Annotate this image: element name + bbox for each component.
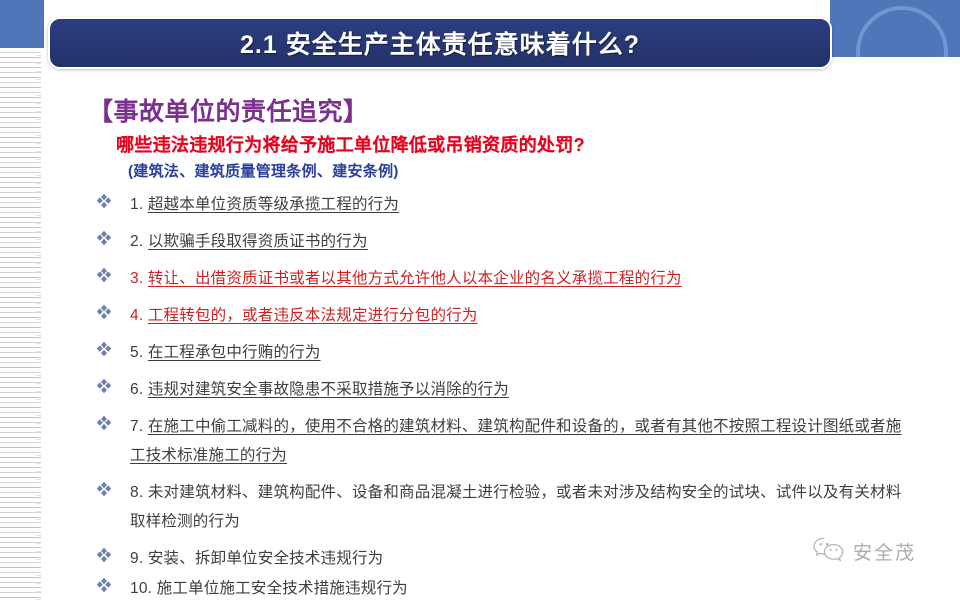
list-item: 6. 违规对建筑安全事故隐患不采取措施予以消除的行为 xyxy=(96,375,916,404)
list-item-body: 以欺骗手段取得资质证书的行为 xyxy=(148,233,368,250)
list-item-body: 违规对建筑安全事故隐患不采取措施予以消除的行为 xyxy=(148,381,509,398)
list-item-text: 10. 施工单位施工安全技术措施违规行为 xyxy=(130,574,916,601)
list-item: 7. 在施工中偷工减料的，使用不合格的建筑材料、建筑构配件和设备的，或者有其他不… xyxy=(96,412,916,470)
wechat-logo-icon xyxy=(812,536,846,567)
diamond-cluster-bullet-icon xyxy=(96,481,130,503)
list-item-text: 1. 超越本单位资质等级承揽工程的行为 xyxy=(130,190,916,219)
diamond-cluster-bullet-icon xyxy=(96,304,130,326)
list-item-body: 超越本单位资质等级承揽工程的行为 xyxy=(148,196,399,213)
section-source-blue: (建筑法、建筑质量管理条例、建安条例) xyxy=(128,160,399,181)
watermark: 安全茂 xyxy=(812,536,916,567)
list-item: 1. 超越本单位资质等级承揽工程的行为 xyxy=(96,190,916,219)
list-item-body: 在施工中偷工减料的，使用不合格的建筑材料、建筑构配件和设备的，或者有其他不按照工… xyxy=(130,418,901,464)
list-item-text: 2. 以欺骗手段取得资质证书的行为 xyxy=(130,227,916,256)
list-item-number: 7. xyxy=(130,418,143,435)
list-item-number: 4. xyxy=(130,307,143,324)
list-item-text: 9. 安装、拆卸单位安全技术违规行为 xyxy=(130,544,916,573)
list-item-number: 8. xyxy=(130,484,143,501)
diamond-cluster-bullet-icon xyxy=(96,547,130,569)
list-item: 9. 安装、拆卸单位安全技术违规行为 xyxy=(96,544,916,573)
list-item: 2. 以欺骗手段取得资质证书的行为 xyxy=(96,227,916,256)
watermark-text: 安全茂 xyxy=(853,538,916,565)
violation-list: 1. 超越本单位资质等级承揽工程的行为 2. 以欺骗手段取得资质证书的行为 3.… xyxy=(96,190,916,601)
list-item-text: 4. 工程转包的，或者违反本法规定进行分包的行为 xyxy=(130,301,916,330)
list-item: 5. 在工程承包中行贿的行为 xyxy=(96,338,916,367)
list-item-text: 3. 转让、出借资质证书或者以其他方式允许他人以本企业的名义承揽工程的行为 xyxy=(130,264,916,293)
diamond-cluster-bullet-icon xyxy=(96,577,130,599)
slide-content: 【事故单位的责任追究】 哪些违法违规行为将给予施工单位降低或吊销资质的处罚? (… xyxy=(0,0,960,601)
list-item-number: 9. xyxy=(130,550,143,567)
list-item-number: 5. xyxy=(130,344,143,361)
list-item: 10. 施工单位施工安全技术措施违规行为 xyxy=(96,574,916,601)
diamond-cluster-bullet-icon xyxy=(96,415,130,437)
list-item-body: 施工单位施工安全技术措施违规行为 xyxy=(157,580,408,597)
list-item-body: 未对建筑材料、建筑构配件、设备和商品混凝土进行检验，或者未对涉及结构安全的试块、… xyxy=(130,484,901,530)
slide-canvas: 2.1 安全生产主体责任意味着什么? 【事故单位的责任追究】 哪些违法违规行为将… xyxy=(0,0,960,601)
list-item-text: 5. 在工程承包中行贿的行为 xyxy=(130,338,916,367)
list-item-text: 8. 未对建筑材料、建筑构配件、设备和商品混凝土进行检验，或者未对涉及结构安全的… xyxy=(130,478,916,536)
list-item-number: 3. xyxy=(130,270,143,287)
list-item: 3. 转让、出借资质证书或者以其他方式允许他人以本企业的名义承揽工程的行为 xyxy=(96,264,916,293)
diamond-cluster-bullet-icon xyxy=(96,230,130,252)
list-item-number: 10. xyxy=(130,580,152,597)
section-heading-purple: 【事故单位的责任追究】 xyxy=(88,92,369,128)
diamond-cluster-bullet-icon xyxy=(96,267,130,289)
list-item: 4. 工程转包的，或者违反本法规定进行分包的行为 xyxy=(96,301,916,330)
list-item-number: 6. xyxy=(130,381,143,398)
diamond-cluster-bullet-icon xyxy=(96,193,130,215)
list-item-body: 安装、拆卸单位安全技术违规行为 xyxy=(148,550,384,567)
list-item-number: 2. xyxy=(130,233,143,250)
list-item-body: 工程转包的，或者违反本法规定进行分包的行为 xyxy=(148,307,478,324)
diamond-cluster-bullet-icon xyxy=(96,378,130,400)
section-question-red: 哪些违法违规行为将给予施工单位降低或吊销资质的处罚? xyxy=(116,131,585,157)
list-item-body: 在工程承包中行贿的行为 xyxy=(148,344,321,361)
list-item-body: 转让、出借资质证书或者以其他方式允许他人以本企业的名义承揽工程的行为 xyxy=(148,270,682,287)
diamond-cluster-bullet-icon xyxy=(96,341,130,363)
list-item-number: 1. xyxy=(130,196,143,213)
list-item-text: 6. 违规对建筑安全事故隐患不采取措施予以消除的行为 xyxy=(130,375,916,404)
list-item: 8. 未对建筑材料、建筑构配件、设备和商品混凝土进行检验，或者未对涉及结构安全的… xyxy=(96,478,916,536)
list-item-text: 7. 在施工中偷工减料的，使用不合格的建筑材料、建筑构配件和设备的，或者有其他不… xyxy=(130,412,916,470)
